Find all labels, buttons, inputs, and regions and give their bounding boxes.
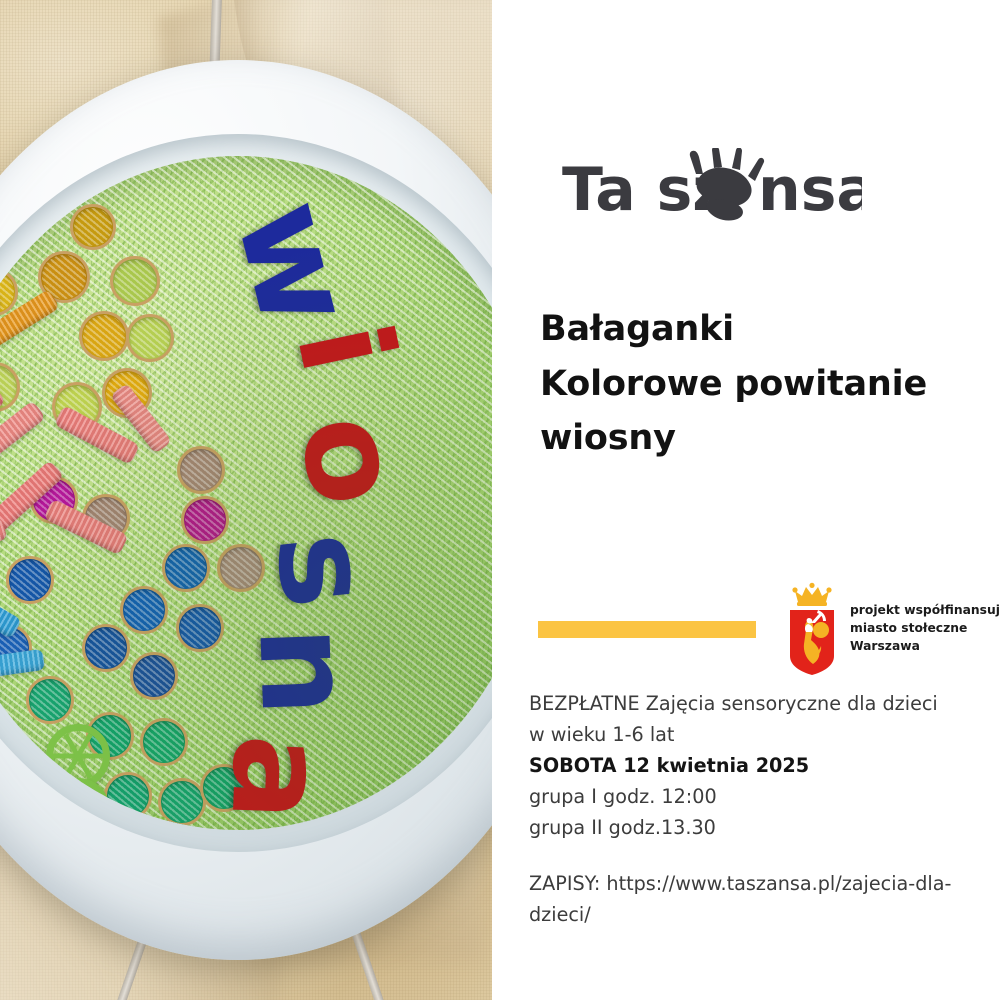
green-rice-bed: w i o s n a <box>0 156 492 830</box>
rice-cup <box>162 544 210 592</box>
rice-cup <box>52 382 102 432</box>
rice-cup <box>0 624 32 672</box>
rice-cup <box>102 368 152 418</box>
signup-line-1: ZAPISY: https://www.taszansa.pl/zajecia-… <box>529 868 984 899</box>
warsaw-sponsor-text: projekt współfinansuje miasto stołeczne … <box>850 602 1000 655</box>
ta-szansa-logo[interactable]: Ta sz nsa <box>562 148 862 228</box>
rice-cup <box>104 772 152 820</box>
event-date: SOBOTA 12 kwietnia 2025 <box>529 750 979 781</box>
rice-cup <box>120 586 168 634</box>
details-line-2: w wieku 1-6 lat <box>529 719 979 750</box>
foam-letter-o: o <box>279 406 420 515</box>
rice-cup <box>30 476 78 524</box>
foam-letter-s: s <box>257 527 388 613</box>
rice-cup <box>70 204 116 250</box>
warsaw-coat-of-arms-icon <box>785 582 839 676</box>
group-2-time: grupa II godz.13.30 <box>529 812 979 843</box>
pasta-wheel <box>0 734 8 800</box>
warsaw-line-3: Warszawa <box>850 638 1000 656</box>
pasta-penne <box>0 289 60 349</box>
signup-link[interactable]: ZAPISY: https://www.taszansa.pl/zajecia-… <box>529 868 984 930</box>
signup-line-2: dzieci/ <box>529 899 984 930</box>
foam-letter-a: a <box>212 733 343 824</box>
pasta-penne <box>0 287 1 328</box>
rice-cup <box>0 268 18 316</box>
rice-cup <box>130 652 178 700</box>
pasta-penne <box>0 749 5 785</box>
warsaw-line-2: miasto stołeczne <box>850 620 1000 638</box>
sensory-play-photo: w i o s n a <box>0 0 492 1000</box>
pasta-penne <box>110 383 172 454</box>
white-bowl: w i o s n a <box>0 60 492 960</box>
warsaw-sponsor-lockup: projekt współfinansuje miasto stołeczne … <box>785 582 1000 676</box>
pasta-penne <box>43 499 128 556</box>
rice-cup <box>177 446 225 494</box>
rice-cup <box>126 314 174 362</box>
pasta-wheel <box>46 778 110 830</box>
rice-cup <box>158 778 206 826</box>
crown-icon <box>792 583 831 606</box>
rice-cup <box>181 496 229 544</box>
rice-cup <box>79 311 129 361</box>
pasta-penne <box>0 649 45 680</box>
pasta-penne <box>0 460 64 534</box>
yellow-divider-bar <box>538 621 756 638</box>
event-details: BEZPŁATNE Zajęcia sensoryczne dla dzieci… <box>529 688 979 843</box>
rice-cup <box>26 676 74 724</box>
rice-cup <box>38 251 90 303</box>
rice-cup <box>140 718 188 766</box>
pasta-penne <box>0 518 8 561</box>
poster-canvas: w i o s n a Ta sz <box>0 0 1000 1000</box>
headline-line-1: Bałaganki <box>540 302 970 357</box>
rice-cup <box>82 494 130 542</box>
pasta-penne <box>54 405 140 465</box>
page-title: Bałaganki Kolorowe powitanie wiosny <box>540 302 970 466</box>
warsaw-line-1: projekt współfinansuje <box>850 602 1000 620</box>
rice-cup <box>217 544 265 592</box>
logo-text-after: nsa <box>758 155 862 225</box>
foam-letter-n: n <box>240 624 369 718</box>
rice-cup <box>110 256 160 306</box>
pasta-penne <box>0 215 1 257</box>
group-1-time: grupa I godz. 12:00 <box>529 781 979 812</box>
pasta-wheel <box>0 758 64 826</box>
headline-line-2: Kolorowe powitanie <box>540 357 970 412</box>
pasta-penne <box>83 811 168 830</box>
rice-cup <box>82 624 130 672</box>
rice-cup <box>86 712 134 760</box>
pasta-penne <box>23 800 111 830</box>
foam-letter-i: i <box>277 313 411 383</box>
pasta-penne <box>0 161 63 213</box>
pasta-wheel <box>46 724 110 788</box>
pasta-penne <box>0 400 46 469</box>
rice-cup <box>200 764 248 812</box>
foam-letter-w: w <box>216 189 374 339</box>
pasta-penne <box>0 623 3 676</box>
rice-cup <box>176 604 224 652</box>
info-panel: Ta sz nsa Bałaganki Kolorowe powitanie <box>492 0 1000 1000</box>
pasta-penne <box>0 579 22 639</box>
details-line-1: BEZPŁATNE Zajęcia sensoryczne dla dzieci <box>529 688 979 719</box>
rice-cup <box>0 362 20 412</box>
pasta-penne <box>0 680 3 727</box>
pasta-penne <box>0 384 6 446</box>
rice-cup <box>6 556 54 604</box>
headline-line-3: wiosny <box>540 411 970 466</box>
